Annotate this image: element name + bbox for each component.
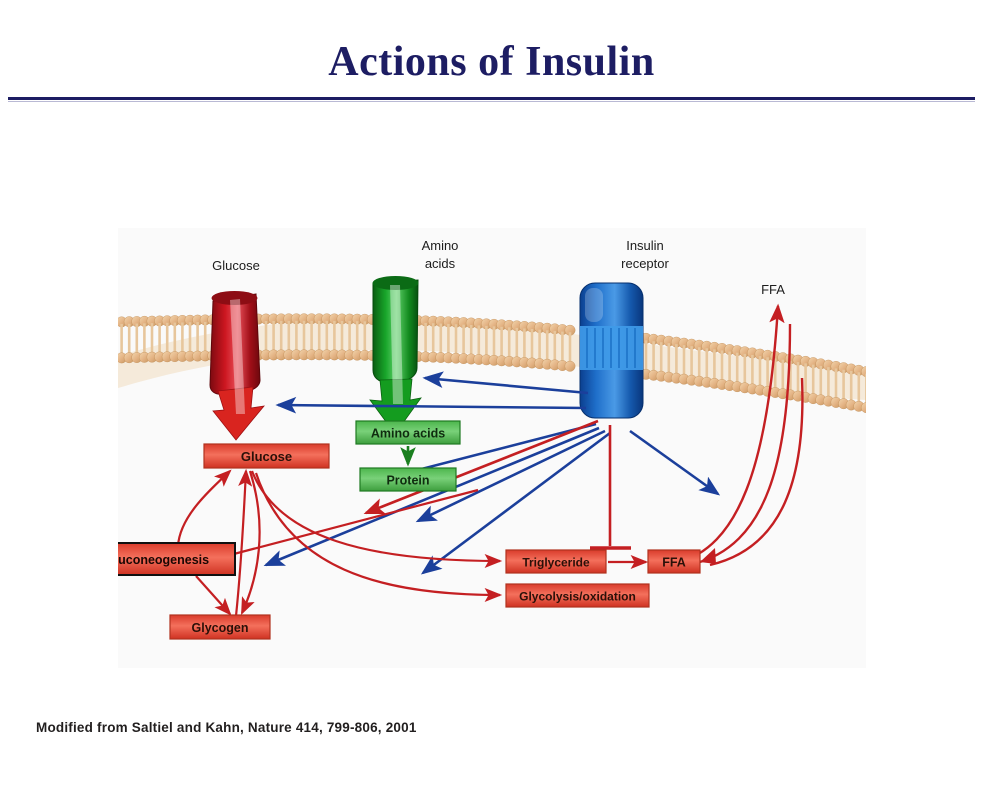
insulin-receptor-label-line2: receptor bbox=[621, 256, 669, 271]
node-protein[interactable]: Protein bbox=[360, 468, 456, 491]
node-glucose[interactable]: Glucose bbox=[204, 444, 329, 468]
node-glucose-label: Glucose bbox=[241, 449, 292, 464]
node-triglyceride-label: Triglyceride bbox=[522, 556, 590, 570]
ffa-extracellular-label: FFA bbox=[761, 282, 785, 297]
insulin-receptor-label-line1: Insulin bbox=[626, 238, 664, 253]
node-glycolysis[interactable]: Glycolysis/oxidation bbox=[506, 584, 649, 607]
node-amino-acids-label: Amino acids bbox=[371, 427, 445, 441]
node-gluconeogenesis-label: Gluconeogenesis bbox=[118, 553, 209, 567]
node-amino-acids[interactable]: Amino acids bbox=[356, 421, 460, 444]
amino-acid-transporter-label-line1: Amino bbox=[422, 238, 459, 253]
title-divider bbox=[8, 97, 975, 100]
node-protein-label: Protein bbox=[386, 474, 429, 488]
insulin-receptor[interactable] bbox=[580, 283, 643, 418]
node-ffa-label: FFA bbox=[662, 556, 686, 570]
page-title: Actions of Insulin bbox=[0, 38, 983, 86]
amino-acid-transporter-label-line2: acids bbox=[425, 256, 456, 271]
node-triglyceride[interactable]: Triglyceride bbox=[506, 550, 606, 573]
insulin-action-diagram: Glucose Amino acids Insulin receptor FFA bbox=[118, 228, 866, 668]
node-glycolysis-label: Glycolysis/oxidation bbox=[519, 590, 636, 604]
title-divider-shadow bbox=[8, 101, 975, 102]
source-citation: Modified from Saltiel and Kahn, Nature 4… bbox=[36, 720, 417, 735]
node-glycogen-label: Glycogen bbox=[192, 621, 249, 635]
glucose-transporter-label: Glucose bbox=[212, 258, 260, 273]
node-ffa[interactable]: FFA bbox=[648, 550, 700, 573]
node-glycogen[interactable]: Glycogen bbox=[170, 615, 270, 639]
node-gluconeogenesis[interactable]: Gluconeogenesis bbox=[118, 543, 235, 575]
